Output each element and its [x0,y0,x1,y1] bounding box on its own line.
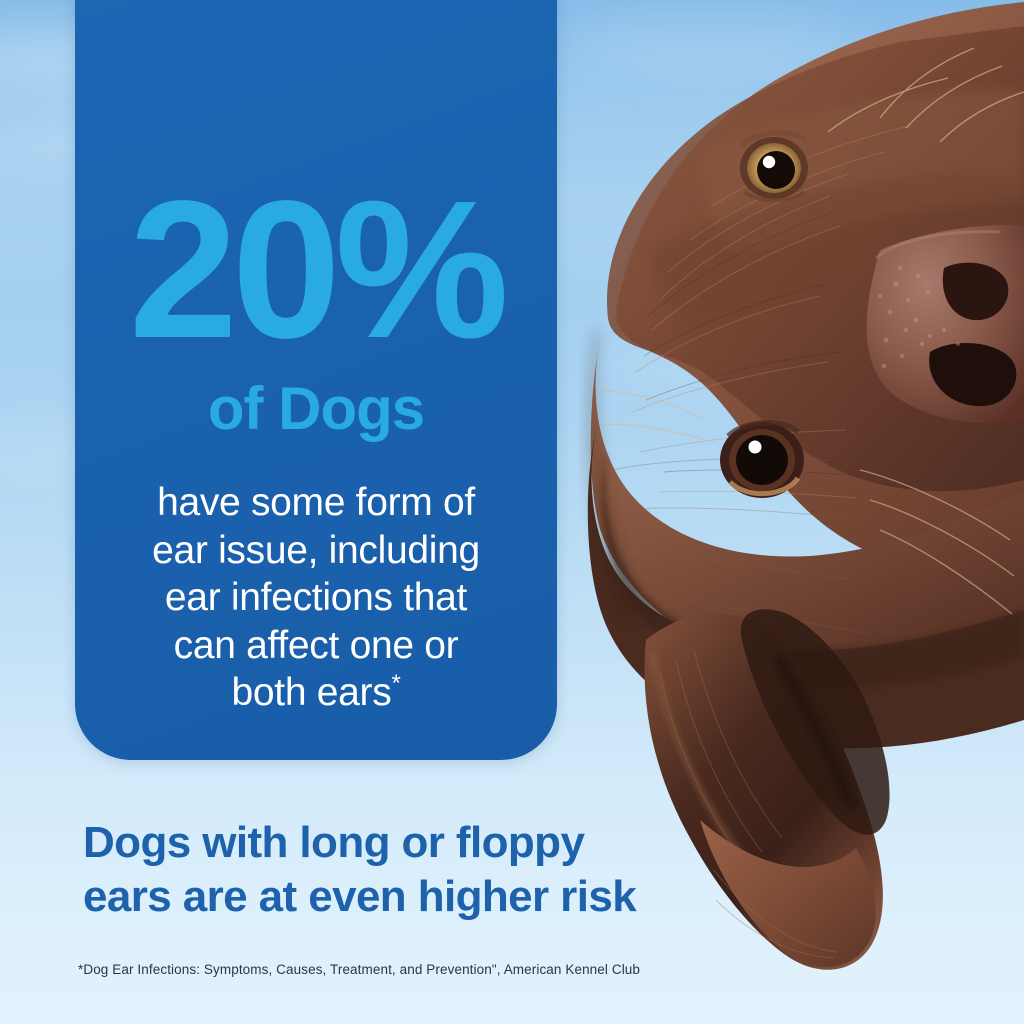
source-footnote: *Dog Ear Infections: Symptoms, Causes, T… [78,962,640,977]
cloud-streak [600,330,1020,386]
footnote-marker: * [391,670,400,697]
dog-jaw [588,430,1024,748]
stat-description-line: have some form of [152,479,480,527]
stat-description-text: both ears [232,671,392,714]
stat-caption: of Dogs [208,379,424,439]
stat-card: 20% of Dogs have some form of ear issue,… [75,0,557,760]
stat-description-line-last: both ears* [152,669,480,717]
dog-nose [867,225,1024,423]
headline: Dogs with long or floppy ears are at eve… [83,816,783,923]
dog-head [591,2,1024,674]
dog-eye-lower [720,422,804,498]
infographic-canvas: 20% of Dogs have some form of ear issue,… [0,0,1024,1024]
stat-description: have some form of ear issue, including e… [138,479,494,717]
stat-description-line: can affect one or [152,622,480,670]
dog-whiskers [600,390,1014,614]
dog-eye-upper [740,133,808,200]
stat-description-line: ear infections that [152,574,480,622]
stat-percentage: 20% [129,196,503,345]
headline-line-2: ears are at even higher risk [83,870,783,924]
cloud-streak [560,20,860,72]
stat-description-line: ear issue, including [152,527,480,575]
headline-line-1: Dogs with long or floppy [83,816,783,870]
